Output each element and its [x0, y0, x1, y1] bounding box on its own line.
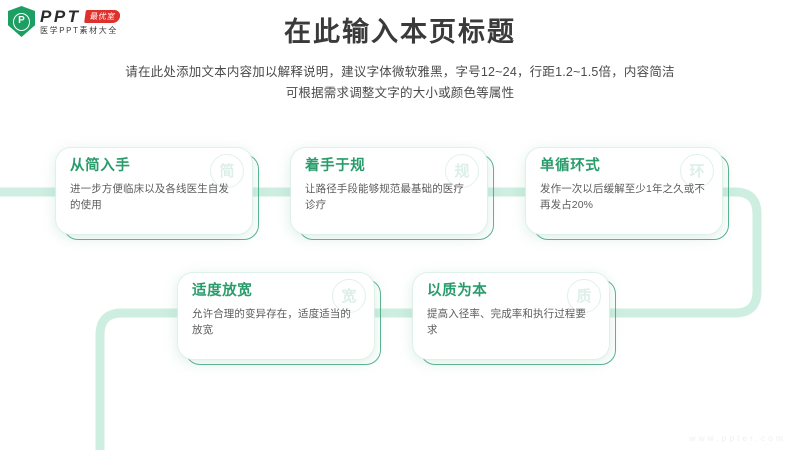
card-heading: 以质为本 [427, 284, 595, 300]
flow-card-1[interactable]: 简 从简入手 进一步方便临床以及各线医生自发的使用 [56, 148, 252, 234]
card-heading: 着手于规 [305, 159, 473, 175]
card-heading: 单循环式 [540, 159, 708, 175]
card-body: 发作一次以后缓解至少1年之久或不再发占20% [540, 181, 708, 214]
slide-canvas: P PPT 最优室 医学PPT素材大全 在此输入本页标题 请在此处添加文本内容加… [0, 0, 800, 450]
page-subtitle: 请在此处添加文本内容加以解释说明，建议字体微软雅黑，字号12~24，行距1.2~… [0, 62, 800, 103]
card-panel: 宽 适度放宽 允许合理的变异存在，适度适当的放宽 [178, 273, 374, 359]
subtitle-line-2: 可根据需求调整文字的大小或颜色等属性 [0, 83, 800, 104]
card-panel: 简 从简入手 进一步方便临床以及各线医生自发的使用 [56, 148, 252, 234]
card-body: 进一步方便临床以及各线医生自发的使用 [70, 181, 238, 214]
card-panel: 环 单循环式 发作一次以后缓解至少1年之久或不再发占20% [526, 148, 722, 234]
footer-watermark: www.ppter.com [689, 433, 786, 443]
card-heading: 从简入手 [70, 159, 238, 175]
card-panel: 质 以质为本 提高入径率、完成率和执行过程要求 [413, 273, 609, 359]
flow-card-2[interactable]: 规 着手于规 让路径手段能够规范最基础的医疗诊疗 [291, 148, 487, 234]
subtitle-line-1: 请在此处添加文本内容加以解释说明，建议字体微软雅黑，字号12~24，行距1.2~… [0, 62, 800, 83]
card-heading: 适度放宽 [192, 284, 360, 300]
flow-card-3[interactable]: 环 单循环式 发作一次以后缓解至少1年之久或不再发占20% [526, 148, 722, 234]
card-body: 允许合理的变异存在，适度适当的放宽 [192, 306, 360, 339]
card-body: 提高入径率、完成率和执行过程要求 [427, 306, 595, 339]
card-panel: 规 着手于规 让路径手段能够规范最基础的医疗诊疗 [291, 148, 487, 234]
flow-card-5[interactable]: 质 以质为本 提高入径率、完成率和执行过程要求 [413, 273, 609, 359]
flow-card-4[interactable]: 宽 适度放宽 允许合理的变异存在，适度适当的放宽 [178, 273, 374, 359]
page-title: 在此输入本页标题 [0, 16, 800, 48]
card-body: 让路径手段能够规范最基础的医疗诊疗 [305, 181, 473, 214]
